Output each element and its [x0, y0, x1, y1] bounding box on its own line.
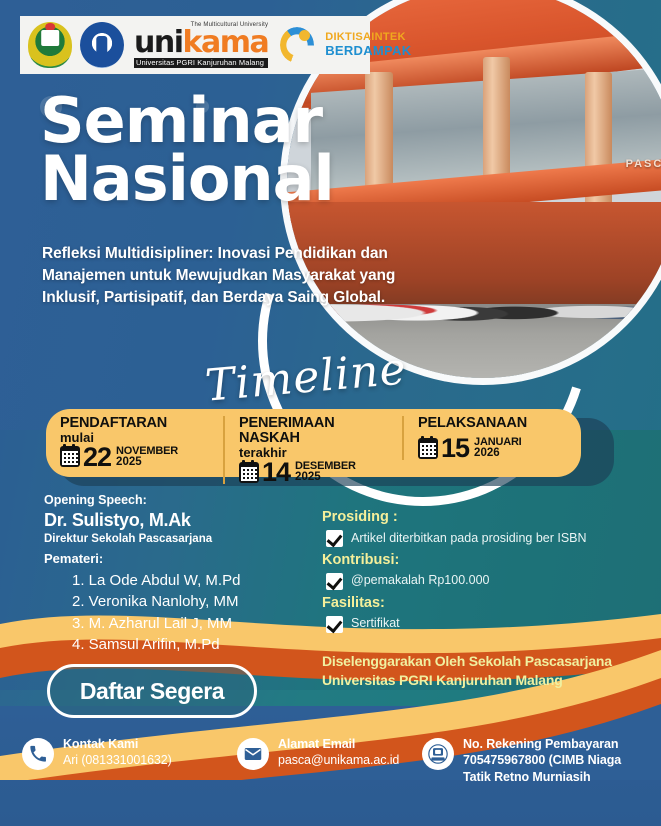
timeline-item-penerimaan-naskah: PENERIMAAN NASKAH terakhir 14 DESEMBER 2…: [223, 416, 402, 484]
poster-root: PASC The Multicultural University unikam…: [0, 0, 661, 826]
kontribusi-value: @pemakalah Rp100.000: [351, 573, 489, 589]
title-line-2: Nasional: [40, 150, 334, 208]
contact-email-title: Alamat Email: [278, 736, 399, 752]
timeline-item-year: 2026: [474, 448, 522, 460]
diktisaintek-wordmark: DIKTISAINTEK BERDAMPAK: [325, 32, 411, 57]
unikama-word-kama: kama: [183, 25, 269, 60]
contact-phone[interactable]: Kontak Kami Ari (081331001632): [22, 736, 237, 770]
timeline-item-day: 15: [441, 437, 469, 460]
timeline-item-year: 2025: [295, 472, 356, 484]
list-item: 2. Veronika Nanlohy, MM: [44, 591, 240, 612]
poster-title: Seminar Nasional: [40, 92, 334, 207]
daftar-segera-button[interactable]: Daftar Segera: [47, 664, 257, 718]
contact-email[interactable]: Alamat Email pasca@unikama.ac.id: [237, 736, 422, 770]
timeline-item-year: 2025: [116, 457, 178, 469]
fasilitas-row: Sertifikat: [326, 616, 642, 633]
contact-email-value: pasca@unikama.ac.id: [278, 752, 399, 768]
timeline-item-day: 22: [83, 446, 111, 469]
contact-payment-value: 705475967800 (CIMB Niaga: [463, 752, 621, 768]
list-item: 4. Samsul Arifin, M.Pd: [44, 634, 240, 655]
logo-bar: The Multicultural University unikama Uni…: [20, 16, 370, 74]
fasilitas-label: Fasilitas:: [322, 594, 642, 613]
timeline-item-date: 15 JANUARI 2026: [418, 437, 575, 460]
unikama-wordmark: The Multicultural University unikama Uni…: [134, 22, 268, 67]
calendar-icon: [60, 446, 80, 467]
organizer-line-2: Universitas PGRI Kanjuruhan Malang: [322, 671, 652, 690]
pemateri-list: 1. La Ode Abdul W, M.Pd 2. Veronika Nanl…: [44, 570, 240, 655]
list-item: 1. La Ode Abdul W, M.Pd: [44, 570, 240, 591]
calendar-icon: [239, 462, 259, 483]
prosiding-row: Artikel diterbitkan pada prosiding ber I…: [326, 530, 642, 547]
timeline-item-head: PELAKSANAAN: [418, 416, 575, 431]
timeline-item-head: PENERIMAAN NASKAH: [239, 416, 396, 446]
timeline-card: PENDAFTARAN mulai 22 NOVEMBER 2025 PENER…: [46, 409, 581, 477]
prosiding-value: Artikel diterbitkan pada prosiding ber I…: [351, 531, 587, 547]
timeline-item-day: 14: [262, 461, 290, 484]
poster-subtitle: Refleksi Multidisipliner: Inovasi Pendid…: [42, 243, 442, 309]
unikama-crest-icon: [80, 22, 124, 68]
check-icon: [326, 573, 343, 590]
kontribusi-row: @pemakalah Rp100.000: [326, 573, 642, 590]
unikama-word-uni: uni: [134, 25, 183, 60]
opening-speech-name: Dr. Sulistyo, M.Ak: [44, 509, 240, 532]
organizer-line-1: Diselenggarakan Oleh Sekolah Pascasarjan…: [322, 652, 652, 671]
unikama-name: unikama: [134, 29, 268, 57]
calendar-icon: [418, 438, 438, 459]
timeline-item-head: PENDAFTARAN: [60, 416, 217, 431]
details-block: Prosiding : Artikel diterbitkan pada pro…: [322, 508, 642, 637]
contact-payment[interactable]: No. Rekening Pembayaran 705475967800 (CI…: [422, 736, 639, 785]
contact-payment-value-2: Tatik Retno Murniasih: [463, 769, 621, 785]
check-icon: [326, 616, 343, 633]
contact-phone-value: Ari (081331001632): [63, 752, 172, 768]
list-item: 3. M. Azharul Lail J, MM: [44, 613, 240, 634]
unikama-subtitle: Universitas PGRI Kanjuruhan Malang: [134, 58, 268, 68]
pemateri-label: Pemateri:: [44, 551, 240, 568]
fasilitas-value: Sertifikat: [351, 616, 400, 632]
contact-payment-title: No. Rekening Pembayaran: [463, 736, 621, 752]
opening-speech-role: Direktur Sekolah Pascasarjana: [44, 532, 240, 547]
contact-phone-title: Kontak Kami: [63, 736, 172, 752]
speakers-block: Opening Speech: Dr. Sulistyo, M.Ak Direk…: [44, 492, 240, 655]
check-icon: [326, 530, 343, 547]
timeline-item-pelaksanaan: PELAKSANAAN 15 JANUARI 2026: [402, 416, 581, 460]
timeline-item-date: 14 DESEMBER 2025: [239, 461, 396, 484]
opening-speech-label: Opening Speech:: [44, 492, 240, 509]
prosiding-label: Prosiding :: [322, 508, 642, 527]
envelope-icon: [237, 738, 269, 770]
diktisaintek-line2: BERDAMPAK: [325, 44, 411, 58]
title-line-1: Seminar: [40, 92, 334, 150]
photo-building-sign: PASC: [626, 158, 661, 170]
contact-bar: Kontak Kami Ari (081331001632) Alamat Em…: [0, 736, 661, 808]
payment-icon: [422, 738, 454, 770]
timeline-item-date: 22 NOVEMBER 2025: [60, 446, 217, 469]
phone-icon: [22, 738, 54, 770]
timeline-item-pendaftaran: PENDAFTARAN mulai 22 NOVEMBER 2025: [46, 416, 223, 468]
diktisaintek-icon: [280, 27, 314, 63]
organizer-block: Diselenggarakan Oleh Sekolah Pascasarjan…: [322, 652, 652, 691]
pgri-crest-icon: [28, 22, 72, 68]
kontribusi-label: Kontribusi:: [322, 551, 642, 570]
